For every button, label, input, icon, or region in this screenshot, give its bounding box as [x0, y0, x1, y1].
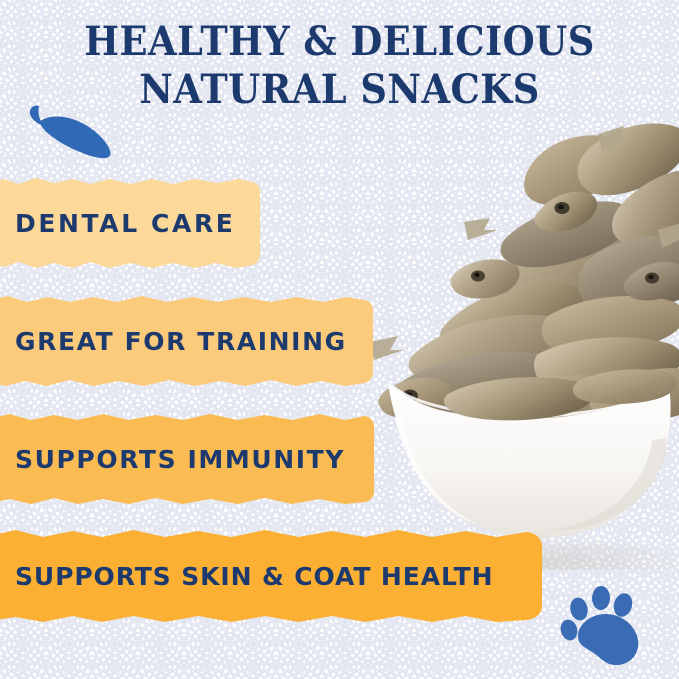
benefit-label: SUPPORTS IMMUNITY	[15, 447, 345, 472]
product-infographic: HEALTHY & DELICIOUS NATURAL SNACKS DENTA…	[0, 0, 679, 679]
benefit-label: DENTAL CARE	[15, 211, 235, 236]
product-photo-dried-fish-bowl	[352, 110, 679, 570]
benefit-banner-supports-immunity[interactable]: SUPPORTS IMMUNITY	[0, 412, 374, 506]
benefit-label: SUPPORTS SKIN & COAT HEALTH	[15, 564, 493, 589]
benefit-banner-dental-care[interactable]: DENTAL CARE	[0, 176, 260, 270]
benefit-label: GREAT FOR TRAINING	[15, 329, 347, 354]
benefit-banner-supports-skin-and-coat-health[interactable]: SUPPORTS SKIN & COAT HEALTH	[0, 528, 542, 624]
fish-icon	[22, 100, 114, 162]
paw-print-icon	[560, 586, 646, 668]
benefit-banner-great-for-training[interactable]: GREAT FOR TRAINING	[0, 294, 373, 388]
